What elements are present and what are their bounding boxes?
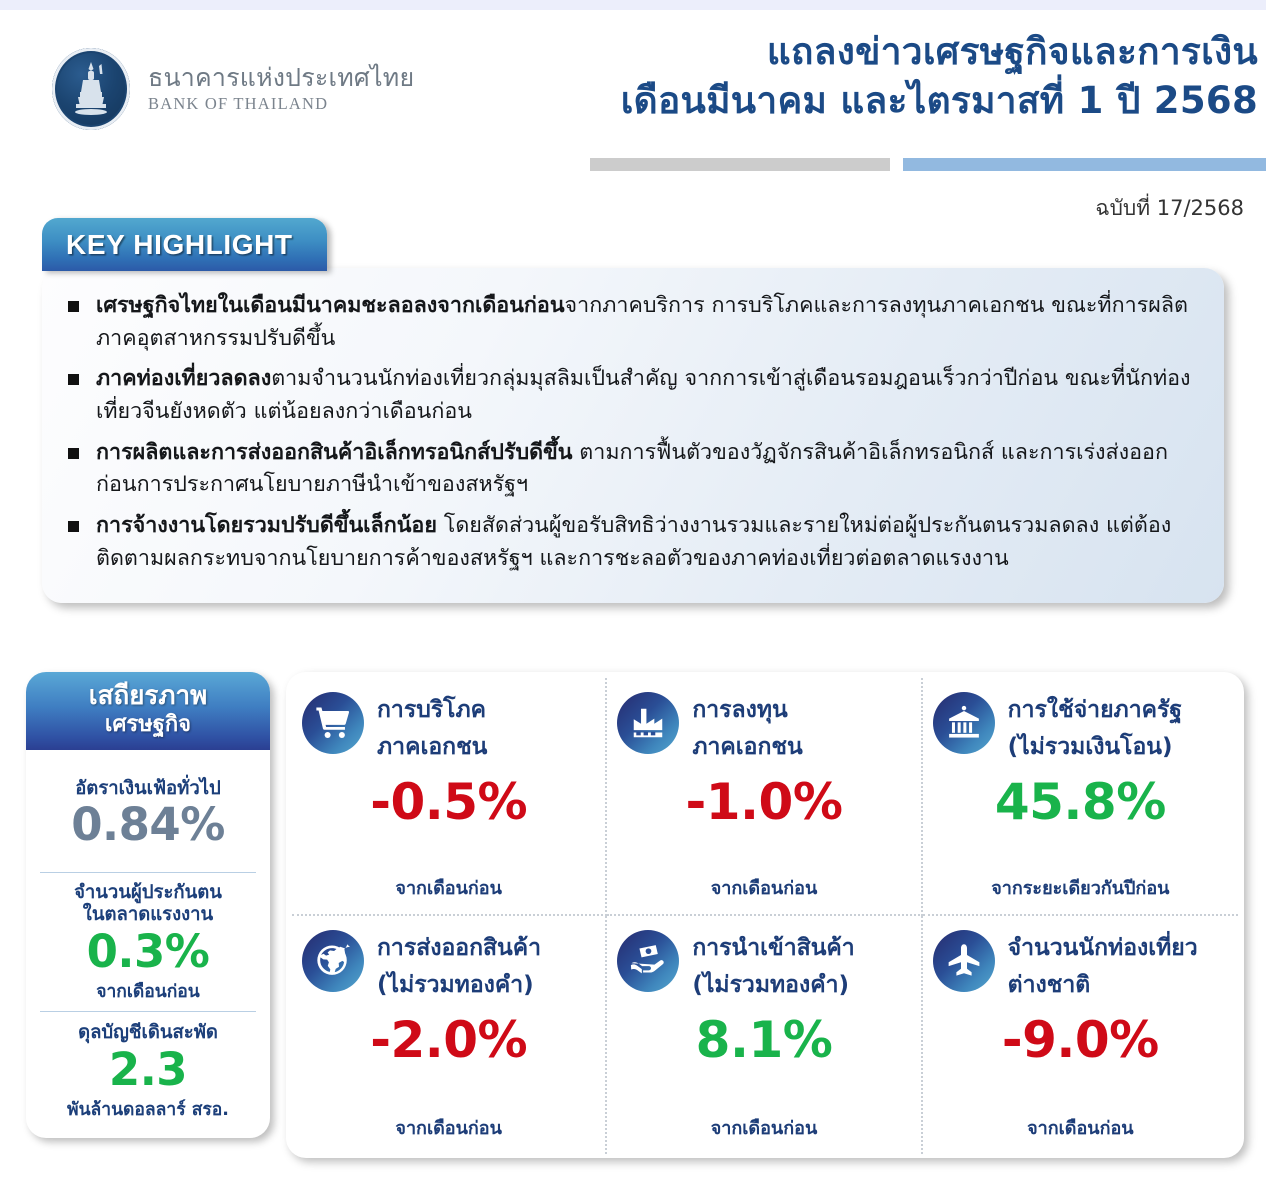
metric-title-line-2: (ไม่รวมทองคำ)	[692, 967, 854, 1004]
metric-title-line-1: การลงทุน	[692, 692, 802, 729]
key-highlight-tab: KEY HIGHLIGHT	[42, 218, 327, 271]
shopping-cart-glyph-icon	[314, 704, 352, 742]
metric-note: จากเดือนก่อน	[933, 1113, 1228, 1146]
metric-header: จำนวนนักท่องเที่ยว ต่างชาติ	[933, 930, 1228, 1005]
bullet-lead: การจ้างงานโดยรวมปรับดีขึ้นเล็กน้อย	[96, 513, 437, 538]
government-building-glyph-icon	[945, 704, 983, 742]
key-highlight-panel: เศรษฐกิจไทยในเดือนมีนาคมชะลอลงจากเดือนก่…	[42, 268, 1224, 603]
bullet-square-icon	[68, 448, 79, 459]
metric-header: การใช้จ่ายภาครัฐ (ไม่รวมเงินโอน)	[933, 692, 1228, 767]
metric-title: จำนวนนักท่องเที่ยว ต่างชาติ	[1008, 930, 1198, 1005]
stability-item-value: 2.3	[40, 1045, 256, 1095]
title-underline-rules	[590, 158, 1266, 171]
metric-title-line-1: การใช้จ่ายภาครัฐ	[1008, 692, 1182, 729]
metric-header: การบริโภค ภาคเอกชน	[302, 692, 595, 767]
list-item: การผลิตและการส่งออกสินค้าอิเล็กทรอนิกส์ป…	[68, 437, 1194, 502]
metric-note: จากระยะเดียวกันปีก่อน	[933, 873, 1228, 906]
bullet-lead: เศรษฐกิจไทยในเดือนมีนาคมชะลอลงจากเดือนก่…	[96, 293, 565, 318]
page-header: ธนาคารแห่งประเทศไทย BANK OF THAILAND แถล…	[0, 10, 1266, 215]
metric-title: การบริโภค ภาคเอกชน	[377, 692, 487, 767]
page-title: แถลงข่าวเศรษฐกิจและการเงิน เดือนมีนาคม แ…	[621, 28, 1258, 126]
bullet-lead: ภาคท่องเที่ยวลดลง	[96, 366, 271, 391]
metric-note: จากเดือนก่อน	[302, 873, 595, 906]
key-indicators-card: การบริโภค ภาคเอกชน -0.5% จากเดือนก่อน	[286, 672, 1244, 1158]
bot-seal-icon	[52, 48, 130, 130]
rule-blue	[903, 158, 1266, 171]
stability-item-label-line-2: ในตลาดแรงงาน	[40, 904, 256, 927]
stability-item-label-line-1: จำนวนผู้ประกันตน	[40, 882, 256, 905]
list-item: การจ้างงานโดยรวมปรับดีขึ้นเล็กน้อย โดยสั…	[68, 510, 1194, 575]
metric-title-line-2: ต่างชาติ	[1008, 967, 1198, 1004]
key-indicators-grid: การบริโภค ภาคเอกชน -0.5% จากเดือนก่อน	[292, 678, 1238, 1154]
metric-note: จากเดือนก่อน	[617, 1113, 910, 1146]
metric-value: 8.1%	[617, 1011, 910, 1069]
rule-gray	[590, 158, 890, 171]
metric-title-line-2: ภาคเอกชน	[692, 729, 802, 766]
stability-item-value: 0.84%	[40, 800, 256, 850]
bullet-text: ภาคท่องเที่ยวลดลงตามจำนวนนักท่องเที่ยวกล…	[96, 363, 1194, 428]
metric-private-investment: การลงทุน ภาคเอกชน -1.0% จากเดือนก่อน	[607, 678, 922, 916]
metric-title-line-1: การนำเข้าสินค้า	[692, 930, 854, 967]
shopping-cart-icon	[302, 692, 364, 754]
metric-merchandise-imports: การนำเข้าสินค้า (ไม่รวมทองคำ) 8.1% จากเด…	[607, 916, 922, 1154]
stability-item-label: ดุลบัญชีเดินสะพัด	[40, 1022, 256, 1045]
key-highlight-bullet-list: เศรษฐกิจไทยในเดือนมีนาคมชะลอลงจากเดือนก่…	[68, 290, 1194, 575]
metric-value: 45.8%	[933, 773, 1228, 831]
bullet-lead: การผลิตและการส่งออกสินค้าอิเล็กทรอนิกส์ป…	[96, 440, 572, 465]
hand-money-icon	[617, 930, 679, 992]
list-item: เศรษฐกิจไทยในเดือนมีนาคมชะลอลงจากเดือนก่…	[68, 290, 1194, 355]
page-title-line-2: เดือนมีนาคม และไตรมาสที่ 1 ปี 2568	[621, 77, 1258, 126]
metric-title-line-2: (ไม่รวมเงินโอน)	[1008, 729, 1182, 766]
bot-seal-figure-icon	[68, 60, 114, 118]
globe-plane-icon	[302, 930, 364, 992]
airplane-icon	[933, 930, 995, 992]
bullet-text: เศรษฐกิจไทยในเดือนมีนาคมชะลอลงจากเดือนก่…	[96, 290, 1194, 355]
stability-item-label: อัตราเงินเฟ้อทั่วไป	[40, 778, 256, 801]
globe-plane-glyph-icon	[314, 942, 352, 980]
economic-stability-title-line-2: เศรษฐกิจ	[34, 712, 262, 738]
metric-title: การใช้จ่ายภาครัฐ (ไม่รวมเงินโอน)	[1008, 692, 1182, 767]
metric-value: -0.5%	[302, 773, 595, 831]
metric-title-line-1: การบริโภค	[377, 692, 487, 729]
metric-header: การลงทุน ภาคเอกชน	[617, 692, 910, 767]
metric-value: -2.0%	[302, 1011, 595, 1069]
factory-icon	[617, 692, 679, 754]
metric-header: การส่งออกสินค้า (ไม่รวมทองคำ)	[302, 930, 595, 1005]
metric-value: -9.0%	[933, 1011, 1228, 1069]
metric-government-spending: การใช้จ่ายภาครัฐ (ไม่รวมเงินโอน) 45.8% จ…	[923, 678, 1238, 916]
stability-item-note: พันล้านดอลลาร์ สรอ.	[40, 1095, 256, 1123]
brand-lockup: ธนาคารแห่งประเทศไทย BANK OF THAILAND	[52, 48, 414, 130]
metric-title-line-2: ภาคเอกชน	[377, 729, 487, 766]
economic-stability-card: เสถียรภาพ เศรษฐกิจ อัตราเงินเฟ้อทั่วไป 0…	[26, 672, 270, 1138]
stability-item-inflation: อัตราเงินเฟ้อทั่วไป 0.84%	[40, 754, 256, 872]
metric-title-line-2: (ไม่รวมทองคำ)	[377, 967, 541, 1004]
metric-foreign-tourists: จำนวนนักท่องเที่ยว ต่างชาติ -9.0% จากเดื…	[923, 916, 1238, 1154]
metric-header: การนำเข้าสินค้า (ไม่รวมทองคำ)	[617, 930, 910, 1005]
stability-item-insured-persons: จำนวนผู้ประกันตน ในตลาดแรงงาน 0.3% จากเด…	[40, 872, 256, 1012]
indicators-section: เสถียรภาพ เศรษฐกิจ อัตราเงินเฟ้อทั่วไป 0…	[26, 672, 1244, 1158]
bullet-square-icon	[68, 301, 79, 312]
bullet-text: การจ้างงานโดยรวมปรับดีขึ้นเล็กน้อย โดยสั…	[96, 510, 1194, 575]
economic-stability-header: เสถียรภาพ เศรษฐกิจ	[26, 672, 270, 750]
metric-title: การลงทุน ภาคเอกชน	[692, 692, 802, 767]
stability-item-note: จากเดือนก่อน	[40, 977, 256, 1005]
airplane-glyph-icon	[945, 942, 983, 980]
stability-item-current-account: ดุลบัญชีเดินสะพัด 2.3 พันล้านดอลลาร์ สรอ…	[40, 1011, 256, 1130]
government-building-icon	[933, 692, 995, 754]
metric-merchandise-exports: การส่งออกสินค้า (ไม่รวมทองคำ) -2.0% จากเ…	[292, 916, 607, 1154]
bullet-square-icon	[68, 374, 79, 385]
metric-title-line-1: จำนวนนักท่องเที่ยว	[1008, 930, 1198, 967]
metric-title: การส่งออกสินค้า (ไม่รวมทองคำ)	[377, 930, 541, 1005]
key-highlight-section: KEY HIGHLIGHT เศรษฐกิจไทยในเดือนมีนาคมชะ…	[42, 218, 1224, 603]
list-item: ภาคท่องเที่ยวลดลงตามจำนวนนักท่องเที่ยวกล…	[68, 363, 1194, 428]
metric-note: จากเดือนก่อน	[617, 873, 910, 906]
factory-glyph-icon	[629, 704, 667, 742]
metric-value: -1.0%	[617, 773, 910, 831]
brand-name-thai: ธนาคารแห่งประเทศไทย	[148, 64, 414, 93]
bullet-square-icon	[68, 521, 79, 532]
economic-stability-title-line-1: เสถียรภาพ	[34, 681, 262, 712]
page-title-line-1: แถลงข่าวเศรษฐกิจและการเงิน	[621, 28, 1258, 77]
economic-stability-body: อัตราเงินเฟ้อทั่วไป 0.84% จำนวนผู้ประกัน…	[26, 750, 270, 1138]
metric-private-consumption: การบริโภค ภาคเอกชน -0.5% จากเดือนก่อน	[292, 678, 607, 916]
bullet-text: การผลิตและการส่งออกสินค้าอิเล็กทรอนิกส์ป…	[96, 437, 1194, 502]
metric-note: จากเดือนก่อน	[302, 1113, 595, 1146]
brand-name-english: BANK OF THAILAND	[148, 95, 414, 114]
hand-money-glyph-icon	[629, 942, 667, 980]
metric-title: การนำเข้าสินค้า (ไม่รวมทองคำ)	[692, 930, 854, 1005]
key-highlight-tab-label: KEY HIGHLIGHT	[66, 229, 293, 261]
rule-gap	[890, 158, 903, 171]
stability-item-value: 0.3%	[40, 927, 256, 977]
metric-title-line-1: การส่งออกสินค้า	[377, 930, 541, 967]
top-accent-strip	[0, 0, 1266, 10]
